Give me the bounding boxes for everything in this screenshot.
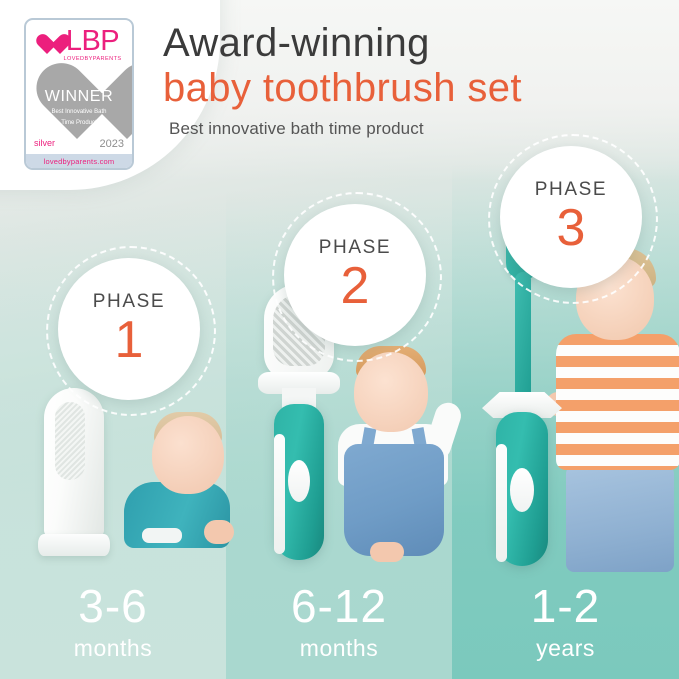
toddler-jeans: [566, 464, 674, 572]
phase-3-bubble: PHASE 3: [500, 146, 642, 288]
denim-overalls: [344, 444, 444, 556]
age-caption-phase-2: 6-12 months: [226, 583, 452, 660]
baby-arm: [204, 520, 234, 544]
baby-foot: [370, 542, 404, 562]
phase-1-label: PHASE: [93, 292, 165, 311]
age-caption-phase-1: 3-6 months: [0, 583, 226, 660]
badge-website: lovedbyparents.com: [26, 154, 132, 168]
lbp-award-badge: LBP LOVEDBYPARENTS ★ WINNER Best Innovat…: [24, 18, 134, 170]
training-brush-side-grip: [274, 434, 285, 554]
brand-name: LBP: [66, 27, 119, 56]
age-range-phase-1: 3-6: [0, 583, 226, 629]
baby-sleeve-cuff: [142, 528, 182, 543]
age-range-phase-2: 6-12: [226, 583, 452, 629]
age-caption-phase-3: 1-2 years: [452, 583, 679, 660]
age-unit-phase-3: years: [452, 637, 679, 660]
phase-1-number: 1: [115, 314, 144, 366]
star-icon: ★: [97, 74, 110, 89]
phase-3-number: 3: [557, 202, 586, 254]
toddler-striped-tee: [556, 334, 679, 470]
baby-head: [354, 352, 428, 432]
award-tier: silver: [34, 138, 55, 150]
phase-1-bubble: PHASE 1: [58, 258, 200, 400]
brand-lockup: LBP LOVEDBYPARENTS: [63, 27, 121, 63]
phase-2-number: 2: [341, 260, 370, 312]
age-range-phase-3: 1-2: [452, 583, 679, 629]
toothbrush-grip-oval: [510, 468, 534, 512]
silicone-finger-brush: [38, 388, 110, 558]
age-unit-phase-2: months: [226, 637, 452, 660]
product-infographic: LBP LOVEDBYPARENTS ★ WINNER Best Innovat…: [0, 0, 679, 679]
toothbrush-side-grip: [496, 444, 507, 562]
badge-meta-row: silver 2023: [34, 138, 124, 150]
heart-icon: [36, 34, 60, 56]
phase-2-label: PHASE: [319, 238, 391, 257]
badge-brand-row: LBP LOVEDBYPARENTS: [36, 27, 121, 63]
baby-sitting-denim-overalls: [318, 336, 468, 568]
brand-tagline: LOVEDBYPARENTS: [63, 57, 121, 63]
finger-brush-bristle-pad: [55, 402, 85, 480]
award-category-line-2: Time Product: [61, 119, 96, 127]
age-unit-phase-1: months: [0, 637, 226, 660]
headline-line-1: Award-winning: [163, 22, 663, 64]
phase-2-bubble: PHASE 2: [284, 204, 426, 346]
award-heart-graphic: ★ WINNER Best Innovative Bath Time Produ…: [31, 65, 127, 135]
award-category-line-1: Best Innovative Bath: [51, 108, 106, 116]
award-year: 2023: [100, 138, 124, 150]
winner-label: WINNER: [45, 89, 113, 105]
award-text: WINNER Best Innovative Bath Time Product: [31, 65, 127, 135]
baby-lying-teal-top: [118, 396, 230, 560]
training-brush-grip-oval: [288, 460, 310, 502]
baby-head: [152, 416, 224, 494]
headline-block: Award-winning baby toothbrush set Best i…: [163, 22, 663, 139]
headline-line-2: baby toothbrush set: [163, 66, 663, 110]
finger-brush-base: [38, 534, 110, 556]
phase-3-label: PHASE: [535, 180, 607, 199]
